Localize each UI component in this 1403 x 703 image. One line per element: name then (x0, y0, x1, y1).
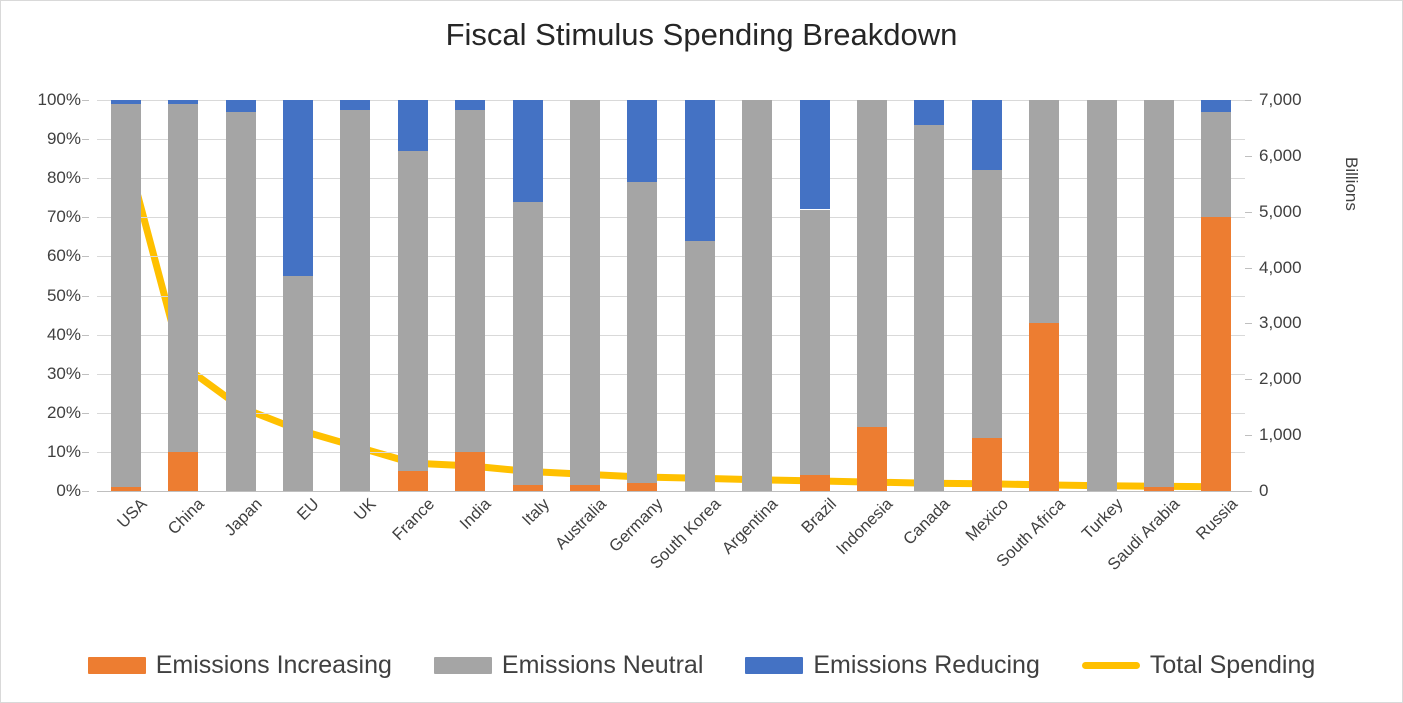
y-axis-right-tick (1245, 212, 1252, 213)
y-axis-left-tick (82, 296, 89, 297)
x-axis-category-label: Italy (518, 495, 553, 530)
bar-segment[interactable] (685, 241, 715, 491)
bar-segment[interactable] (972, 100, 1002, 170)
y-axis-right-tick (1245, 435, 1252, 436)
legend-label: Emissions Neutral (502, 651, 703, 680)
gridline (97, 296, 1245, 297)
y-axis-right-tick-label: 5,000 (1259, 202, 1302, 222)
y-axis-left-tick (82, 100, 89, 101)
bar-segment[interactable] (111, 100, 141, 104)
bar-column[interactable] (685, 100, 715, 491)
legend-swatch-icon (434, 657, 492, 674)
bar-column[interactable] (627, 100, 657, 491)
bar-column[interactable] (1201, 100, 1231, 491)
bar-segment[interactable] (513, 202, 543, 485)
x-axis-category-label: Russia (1193, 495, 1242, 544)
bar-column[interactable] (226, 100, 256, 491)
bar-segment[interactable] (857, 427, 887, 492)
x-axis-category-label: USA (114, 495, 151, 532)
bar-segment[interactable] (627, 483, 657, 491)
bar-column[interactable] (1144, 100, 1174, 491)
gridline (97, 335, 1245, 336)
legend-label: Emissions Reducing (813, 651, 1040, 680)
bar-segment[interactable] (226, 112, 256, 491)
plot-area (97, 100, 1245, 491)
bar-segment[interactable] (1029, 323, 1059, 491)
bar-segment[interactable] (685, 100, 715, 241)
bar-segment[interactable] (111, 104, 141, 487)
x-axis-category-label: Brazil (798, 495, 841, 538)
bar-segment[interactable] (1144, 487, 1174, 491)
bar-segment[interactable] (742, 100, 772, 491)
bar-segment[interactable] (570, 100, 600, 485)
y-axis-right-tick-label: 0 (1259, 481, 1268, 501)
bar-segment[interactable] (340, 100, 370, 110)
bar-segment[interactable] (455, 110, 485, 452)
chart-container: Fiscal Stimulus Spending Breakdown 100%9… (0, 0, 1403, 703)
y-axis-right-tick-label: 7,000 (1259, 90, 1302, 110)
x-axis-category-label: UK (351, 495, 381, 525)
gridline (97, 217, 1245, 218)
bar-column[interactable] (972, 100, 1002, 491)
y-axis-right-tick (1245, 379, 1252, 380)
y-axis-right-tick (1245, 268, 1252, 269)
y-axis-left-tick-label: 70% (47, 207, 81, 227)
bar-segment[interactable] (1029, 100, 1059, 323)
y-axis-left-tick-label: 0% (56, 481, 81, 501)
bar-segment[interactable] (168, 104, 198, 452)
legend-label: Emissions Increasing (156, 651, 392, 680)
x-axis-labels: USAChinaJapanEUUKFranceIndiaItalyAustral… (97, 495, 1245, 605)
chart-legend: Emissions IncreasingEmissions NeutralEmi… (1, 651, 1402, 680)
bar-segment[interactable] (398, 471, 428, 491)
gridline (97, 178, 1245, 179)
bar-segment[interactable] (800, 210, 830, 476)
bar-column[interactable] (914, 100, 944, 491)
legend-item[interactable]: Emissions Reducing (745, 651, 1040, 680)
bar-segment[interactable] (111, 487, 141, 491)
bar-segment[interactable] (1201, 100, 1231, 112)
y-axis-left-tick-label: 90% (47, 129, 81, 149)
y-axis-left-tick-label: 20% (47, 403, 81, 423)
bar-column[interactable] (1029, 100, 1059, 491)
bar-column[interactable] (111, 100, 141, 491)
bar-column[interactable] (1087, 100, 1117, 491)
y-axis-right-title: Billions (1337, 104, 1361, 264)
y-axis-left-tick (82, 413, 89, 414)
bar-segment[interactable] (168, 100, 198, 104)
x-axis-category-label: Indonesia (833, 495, 897, 559)
bar-segment[interactable] (1201, 112, 1231, 218)
gridline (97, 413, 1245, 414)
y-axis-left-tick (82, 139, 89, 140)
x-axis-category-label: Argentina (719, 495, 782, 558)
bar-column[interactable] (742, 100, 772, 491)
bar-column[interactable] (800, 100, 830, 491)
gridline (97, 452, 1245, 453)
legend-item[interactable]: Emissions Increasing (88, 651, 392, 680)
chart-title: Fiscal Stimulus Spending Breakdown (1, 17, 1402, 53)
bar-column[interactable] (168, 100, 198, 491)
legend-item[interactable]: Total Spending (1082, 651, 1315, 680)
bar-segment[interactable] (513, 100, 543, 202)
bar-segment[interactable] (513, 485, 543, 491)
bar-segment[interactable] (226, 100, 256, 112)
bar-segment[interactable] (455, 100, 485, 110)
y-axis-left-tick-label: 100% (38, 90, 81, 110)
legend-item[interactable]: Emissions Neutral (434, 651, 703, 680)
bar-segment[interactable] (398, 100, 428, 151)
bar-segment[interactable] (283, 100, 313, 276)
x-axis-category-label: France (389, 495, 439, 545)
legend-swatch-icon (745, 657, 803, 674)
gridline (97, 139, 1245, 140)
y-axis-right: 7,0006,0005,0004,0003,0002,0001,0000 (1245, 100, 1335, 491)
x-axis-category-label: China (165, 495, 209, 539)
y-axis-right-tick-label: 1,000 (1259, 425, 1302, 445)
y-axis-left-tick (82, 217, 89, 218)
y-axis-left-tick-label: 30% (47, 364, 81, 384)
y-axis-right-tick (1245, 491, 1252, 492)
bar-segment[interactable] (1144, 100, 1174, 487)
y-axis-left-tick-label: 10% (47, 442, 81, 462)
y-axis-left-tick-label: 50% (47, 286, 81, 306)
y-axis-right-tick-label: 3,000 (1259, 313, 1302, 333)
bar-segment[interactable] (857, 100, 887, 426)
bar-column[interactable] (455, 100, 485, 491)
bar-segment[interactable] (800, 475, 830, 491)
bar-segment[interactable] (800, 100, 830, 209)
bar-segment[interactable] (972, 438, 1002, 491)
legend-line-icon (1082, 662, 1140, 669)
bar-segment[interactable] (340, 110, 370, 491)
bar-segment[interactable] (914, 100, 944, 125)
y-axis-left-tick-label: 40% (47, 325, 81, 345)
bar-column[interactable] (513, 100, 543, 491)
y-axis-left-tick (82, 491, 89, 492)
bar-segment[interactable] (627, 100, 657, 182)
y-axis-right-tick-label: 6,000 (1259, 146, 1302, 166)
bar-segment[interactable] (455, 452, 485, 491)
bar-column[interactable] (857, 100, 887, 491)
y-axis-left-tick-label: 60% (47, 246, 81, 266)
y-axis-right-tick (1245, 156, 1252, 157)
bar-segment[interactable] (570, 485, 600, 491)
y-axis-left-tick (82, 335, 89, 336)
y-axis-right-tick (1245, 100, 1252, 101)
y-axis-left-tick (82, 452, 89, 453)
y-axis-right-tick-label: 2,000 (1259, 369, 1302, 389)
x-axis-category-label: India (457, 495, 496, 534)
bar-segment[interactable] (972, 170, 1002, 438)
bar-column[interactable] (340, 100, 370, 491)
y-axis-left: 100%90%80%70%60%50%40%30%20%10%0% (1, 100, 89, 491)
gridline (97, 374, 1245, 375)
gridline (97, 256, 1245, 257)
x-axis-category-label: EU (294, 495, 324, 525)
bar-column[interactable] (398, 100, 428, 491)
x-axis-category-label: Turkey (1078, 495, 1127, 544)
y-axis-left-tick (82, 374, 89, 375)
x-axis-category-label: Mexico (962, 495, 1012, 545)
bar-segment[interactable] (168, 452, 198, 491)
x-axis-category-label: Japan (221, 495, 266, 540)
y-axis-left-tick (82, 256, 89, 257)
gridline (97, 491, 1245, 492)
bar-segment[interactable] (627, 182, 657, 483)
legend-swatch-icon (88, 657, 146, 674)
bar-column[interactable] (570, 100, 600, 491)
y-axis-left-tick (82, 178, 89, 179)
bar-segment[interactable] (1087, 100, 1117, 491)
y-axis-left-tick-label: 80% (47, 168, 81, 188)
gridline (97, 100, 1245, 101)
bar-segment[interactable] (283, 276, 313, 491)
y-axis-right-tick-label: 4,000 (1259, 258, 1302, 278)
bar-segment[interactable] (398, 151, 428, 472)
legend-label: Total Spending (1150, 651, 1315, 680)
x-axis-category-label: Australia (552, 495, 611, 554)
y-axis-right-tick (1245, 323, 1252, 324)
bar-segment[interactable] (1201, 217, 1231, 491)
bar-segment[interactable] (914, 125, 944, 491)
bar-column[interactable] (283, 100, 313, 491)
x-axis-category-label: Canada (900, 495, 954, 549)
